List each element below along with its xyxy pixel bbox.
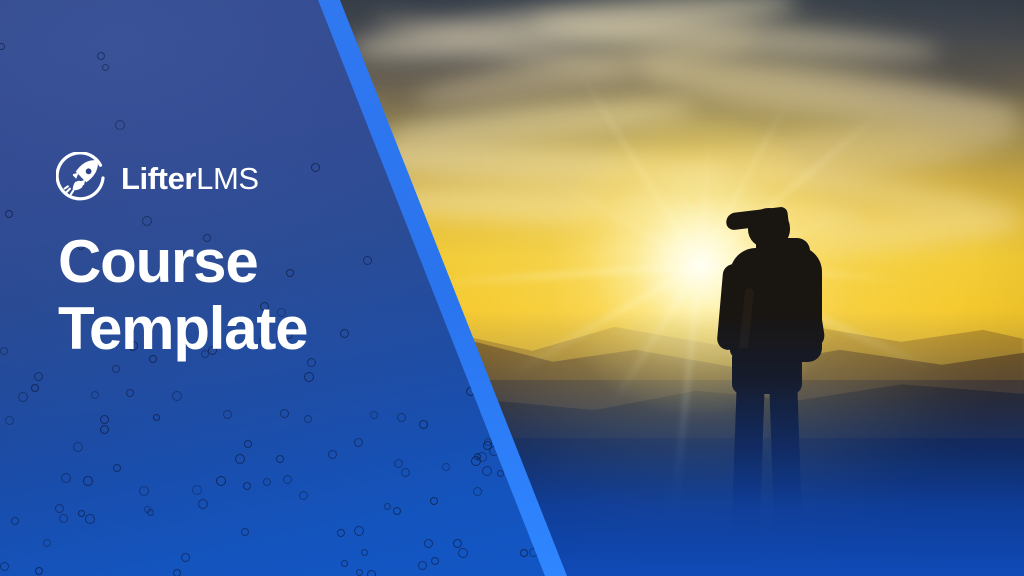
headline-line-2: Template — [58, 295, 388, 362]
course-template-banner: LifterLMS Course Template — [0, 0, 1024, 576]
wordmark-lms: LMS — [196, 161, 259, 196]
lifterlms-logo[interactable]: LifterLMS — [56, 152, 259, 204]
wordmark-lifter: Lifter — [121, 161, 196, 196]
lifterlms-wordmark: LifterLMS — [121, 163, 259, 194]
page-title: Course Template — [58, 228, 388, 362]
rocket-in-circle-icon — [56, 152, 108, 204]
headline-line-1: Course — [58, 228, 388, 295]
